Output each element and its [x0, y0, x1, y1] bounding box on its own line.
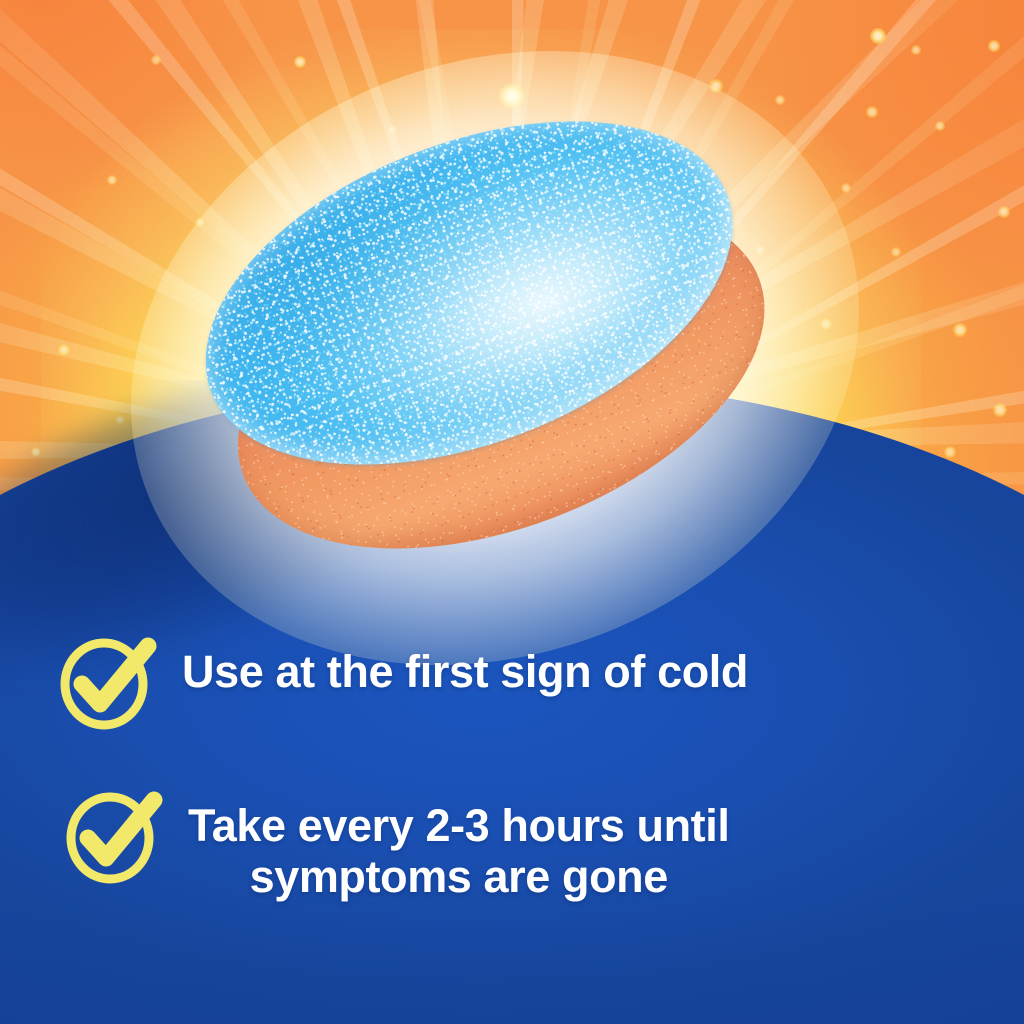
sparkle-dot	[841, 183, 851, 193]
list-item-line: symptoms are gone	[250, 851, 668, 902]
list-item: Use at the first sign of cold	[56, 640, 968, 732]
benefit-list: Use at the first sign of cold Take every…	[0, 640, 1024, 903]
list-item-label: Use at the first sign of cold	[182, 640, 748, 697]
sparkle-dot	[866, 106, 878, 118]
sparkle-dot	[775, 95, 785, 105]
list-item: Take every 2-3 hours until symptoms are …	[56, 794, 968, 903]
sparkle-dot	[911, 45, 921, 55]
check-circle-icon	[56, 636, 164, 732]
sparkle-dot	[998, 206, 1010, 218]
effervescent-tablet	[212, 132, 778, 584]
sparkle-dot	[107, 175, 117, 185]
check-circle-icon	[62, 790, 170, 886]
sparkle-dot	[294, 56, 306, 68]
list-item-label: Take every 2-3 hours until symptoms are …	[188, 794, 729, 903]
sparkle-dot	[58, 344, 70, 356]
sparkle-dot	[988, 40, 1000, 52]
list-item-line: Take every 2-3 hours until	[188, 800, 729, 851]
sparkle-dot	[953, 323, 967, 337]
sparkle-dot	[935, 121, 945, 131]
sparkle-dot	[891, 247, 901, 257]
promo-canvas: Use at the first sign of cold Take every…	[0, 0, 1024, 1024]
sparkle-dot	[151, 55, 161, 65]
sparkle-dot	[870, 28, 886, 44]
